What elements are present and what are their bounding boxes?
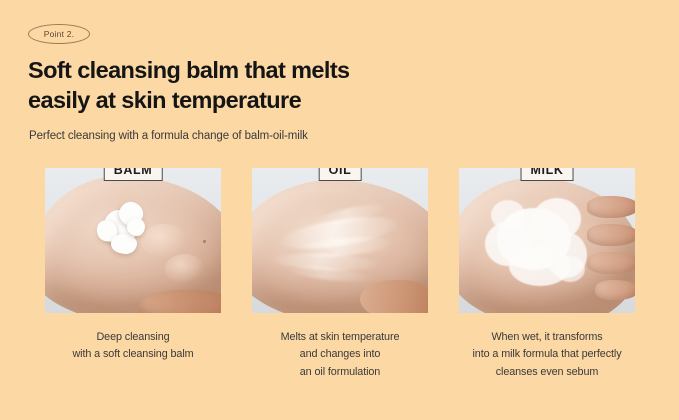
balm-dollop [97, 200, 147, 254]
photo-label-oil: OIL [319, 168, 362, 181]
page-title-line-2: easily at skin temperature [28, 86, 448, 116]
milk-foam [485, 194, 589, 288]
hand-with-milk-photo: MILK [459, 168, 635, 313]
point-badge-label: Point 2. [44, 29, 74, 39]
finger-group [587, 196, 635, 308]
knuckle-highlight [165, 254, 205, 284]
caption-line-3: cleanses even sebum [442, 364, 652, 381]
skin-mole [203, 240, 206, 243]
caption-line-2: into a milk formula that perfectly [442, 346, 652, 363]
page-title: Soft cleansing balm that melts easily at… [28, 56, 448, 116]
page-subtitle: Perfect cleansing with a formula change … [29, 130, 308, 142]
comparison-card-balm: BALM Deep cleansing with a soft cleansin… [45, 168, 221, 381]
caption-line-1: When wet, it transforms [442, 329, 652, 346]
caption-line-1: Melts at skin temperature [235, 329, 445, 346]
page-title-line-1: Soft cleansing balm that melts [28, 56, 448, 86]
card-caption-milk: When wet, it transforms into a milk form… [442, 329, 652, 381]
photo-label-balm: BALM [104, 168, 163, 181]
point-badge-container: Point 2. [28, 24, 90, 44]
comparison-card-milk: MILK When wet, it transforms into a milk… [459, 168, 635, 381]
comparison-card-oil: OIL Melts at skin temperature and change… [252, 168, 428, 381]
thumb-shape [360, 280, 428, 313]
comparison-card-row: BALM Deep cleansing with a soft cleansin… [45, 168, 635, 381]
hand-with-oil-photo: OIL [252, 168, 428, 313]
caption-line-2: with a soft cleansing balm [45, 346, 221, 363]
photo-label-milk: MILK [521, 168, 574, 181]
card-caption-balm: Deep cleansing with a soft cleansing bal… [45, 329, 221, 364]
point-badge: Point 2. [28, 24, 90, 44]
card-caption-oil: Melts at skin temperature and changes in… [235, 329, 445, 381]
caption-line-1: Deep cleansing [45, 329, 221, 346]
hand-with-balm-photo: BALM [45, 168, 221, 313]
caption-line-2: and changes into [235, 346, 445, 363]
knuckle-highlight [141, 224, 187, 258]
caption-line-3: an oil formulation [235, 364, 445, 381]
